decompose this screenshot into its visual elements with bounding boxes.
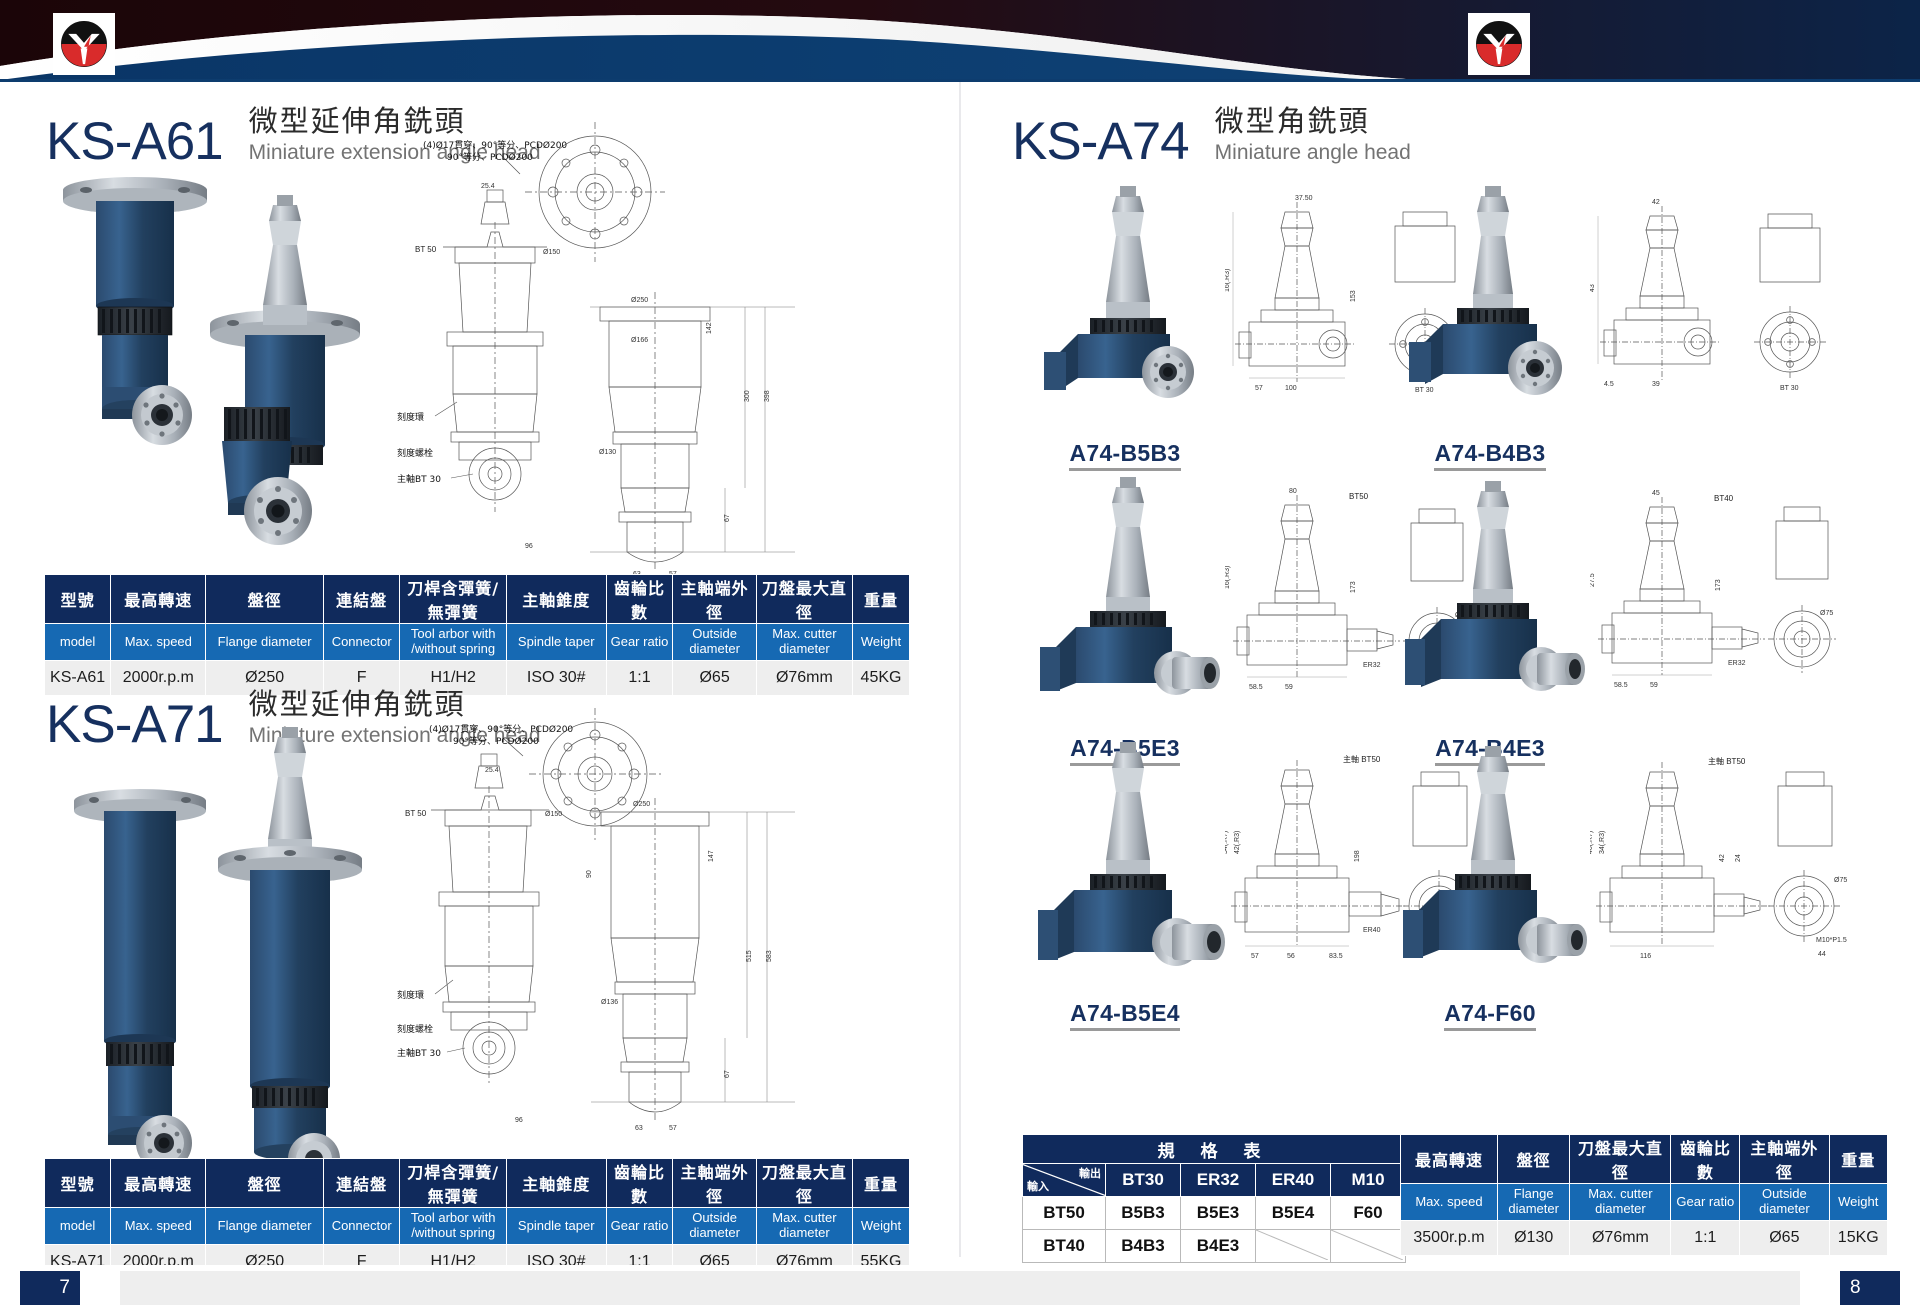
svg-text:173: 173 <box>1350 581 1357 593</box>
diagonal-slash-icon <box>1256 1230 1328 1260</box>
col-header-cn-connector: 連結盤 <box>323 1159 400 1208</box>
svg-text:56: 56 <box>1287 953 1295 960</box>
product-name-en: Miniature angle head <box>1215 140 1411 165</box>
variant-label: A74-B5E4 <box>1070 1000 1180 1031</box>
col-header-cn-gear: 齒輪比數 <box>1671 1135 1740 1184</box>
col-header-cn-outside: 主軸端外徑 <box>673 575 756 624</box>
cell-gear: 1:1 <box>1671 1221 1740 1256</box>
variant-photo <box>1385 742 1595 992</box>
svg-text:BT50: BT50 <box>1349 492 1369 501</box>
col-header-en-speed: Max. speed <box>111 624 206 661</box>
variant-photo <box>1385 477 1595 727</box>
col-header-en-gear: Gear ratio <box>1671 1184 1740 1221</box>
svg-text:25.4: 25.4 <box>481 183 495 190</box>
col-header-cn-gear: 齒輪比數 <box>606 1159 673 1208</box>
col-header-cn-taper: 主軸錐度 <box>506 1159 606 1208</box>
svg-text:90: 90 <box>586 870 593 878</box>
svg-text:44: 44 <box>1818 951 1826 958</box>
table-header-row-en: Max. speed Flange diameter Max. cutter d… <box>1401 1184 1888 1221</box>
drawing-note-bore: (4)Ø17貫穿、90°等分、PCDØ200 <box>429 723 573 735</box>
col-header-en-cutter: Max. cutter diameter <box>756 1208 852 1245</box>
variant-photo <box>1020 477 1230 727</box>
variant-a74-b4e3: 45 27.5 173 58.5 59 ER32 Ø75 BT40 A74-B4… <box>1385 477 1595 732</box>
company-logo-icon <box>56 16 112 72</box>
svg-text:ER32: ER32 <box>1363 662 1381 669</box>
col-header-cn-connector: 連結盤 <box>323 575 400 624</box>
cell-speed: 3500r.p.m <box>1401 1221 1498 1256</box>
technical-drawing-ks-a71: (4)Ø17貫穿、90°等分、PCDØ200 90°等分、PCDØ200 25.… <box>395 682 945 1222</box>
matrix-col-m10: M10 <box>1331 1164 1406 1197</box>
svg-text:37.50: 37.50 <box>1295 195 1313 202</box>
col-header-en-speed: Max. speed <box>111 1208 206 1245</box>
svg-text:398: 398 <box>764 390 771 402</box>
svg-text:198: 198 <box>1354 850 1361 862</box>
col-header-en-cutter: Max. cutter diameter <box>1570 1184 1671 1221</box>
company-logo-secondary <box>1468 13 1530 75</box>
svg-text:147: 147 <box>708 850 715 862</box>
svg-text:Ø150: Ø150 <box>545 811 562 818</box>
col-header-cn-cutter: 刀盤最大直徑 <box>756 575 852 624</box>
svg-text:515: 515 <box>746 950 753 962</box>
svg-text:34(.R3): 34(.R3) <box>1599 831 1606 854</box>
col-header-cn-speed: 最高轉速 <box>111 575 206 624</box>
matrix-cell: B4B3 <box>1106 1230 1181 1263</box>
col-header-en-gear: Gear ratio <box>606 624 673 661</box>
svg-text:67: 67 <box>724 514 731 522</box>
col-header-en-weight: Weight <box>1829 1184 1887 1221</box>
svg-text:57: 57 <box>1251 953 1259 960</box>
svg-text:ER40: ER40 <box>1363 927 1381 934</box>
col-header-cn-flange: 盤徑 <box>206 575 323 624</box>
svg-text:16(.R3): 16(.R3) <box>1225 566 1231 589</box>
svg-text:Ø166: Ø166 <box>631 337 648 344</box>
svg-text:刻度環: 刻度環 <box>397 989 424 1001</box>
svg-text:46(.R7): 46(.R7) <box>1590 831 1594 854</box>
col-header-cn-weight: 重量 <box>1829 1135 1887 1184</box>
col-header-en-flange: Flange diameter <box>1497 1184 1570 1221</box>
svg-text:42: 42 <box>1652 199 1660 206</box>
svg-text:24: 24 <box>1735 854 1742 862</box>
matrix-title-row: 規 格 表 <box>1023 1135 1406 1164</box>
matrix-corner-cell: 輸出 輸入 <box>1023 1164 1106 1197</box>
svg-text:42(.R3): 42(.R3) <box>1234 831 1241 854</box>
cell-cutter: Ø76mm <box>1570 1221 1671 1256</box>
svg-text:25.4: 25.4 <box>485 767 499 774</box>
col-header-cn-speed: 最高轉速 <box>1401 1135 1498 1184</box>
product-photo-ks-a71-side <box>190 717 390 1192</box>
variant-label-wrap: A74-B5E4 <box>1020 1000 1230 1031</box>
product-title-ks-a74: KS-A74 微型角銑頭 Miniature angle head <box>1012 104 1411 168</box>
svg-text:ER32: ER32 <box>1728 660 1746 667</box>
svg-text:100: 100 <box>1285 385 1297 392</box>
table-header-row-en: model Max. speed Flange diameter Connect… <box>45 1208 910 1245</box>
col-header-cn-weight: 重量 <box>853 575 910 624</box>
catalog-spread: KS-A61 微型延伸角銑頭 Miniature extension angle… <box>0 82 1920 1311</box>
cell-outside: Ø65 <box>1740 1221 1829 1256</box>
svg-text:主軸 BT50: 主軸 BT50 <box>1343 754 1381 764</box>
product-photo-ks-a61-head <box>182 407 332 572</box>
variant-label-wrap: A74-F60 <box>1385 1000 1595 1031</box>
col-header-cn-speed: 最高轉速 <box>111 1159 206 1208</box>
variant-a74-b5e4: 主軸 BT50 54(.R7) 42(.R3) 57 56 83.5 ER40 … <box>1020 742 1230 997</box>
matrix-cell: B5E4 <box>1256 1197 1331 1230</box>
col-header-cn-cutter: 刀盤最大直徑 <box>756 1159 852 1208</box>
svg-text:Ø75: Ø75 <box>1820 610 1833 617</box>
col-header-en-outside: Outside diameter <box>1740 1184 1829 1221</box>
product-name-cn: 微型角銑頭 <box>1215 104 1411 138</box>
col-header-en-taper: Spindle taper <box>506 624 606 661</box>
svg-text:主軸 BT50: 主軸 BT50 <box>1708 756 1746 766</box>
svg-text:39: 39 <box>1652 381 1660 388</box>
col-header-cn-weight: 重量 <box>853 1159 910 1208</box>
company-logo-icon <box>1471 16 1527 72</box>
svg-text:主軸BT 30: 主軸BT 30 <box>397 473 441 485</box>
matrix-row-label: BT40 <box>1023 1230 1106 1263</box>
spec-matrix-table: 規 格 表 輸出 輸入 BT30 ER32 ER40 M10 BT50 B5B3… <box>1022 1134 1406 1263</box>
matrix-header-row: 輸出 輸入 BT30 ER32 ER40 M10 <box>1023 1164 1406 1197</box>
spec-table-ks-a71: 型號 最高轉速 盤徑 連結盤 刀桿含彈簧/無彈簧 主軸錐度 齒輪比數 主軸端外徑… <box>44 1158 910 1280</box>
col-header-cn-model: 型號 <box>45 1159 111 1208</box>
svg-text:58.5: 58.5 <box>1614 682 1628 689</box>
header-banner-graphic <box>0 0 1920 82</box>
cell-flange: Ø130 <box>1497 1221 1570 1256</box>
col-header-en-speed: Max. speed <box>1401 1184 1498 1221</box>
svg-text:153: 153 <box>1350 290 1357 302</box>
variant-a74-b4b3: 42 43 4.5 39 BT 30 A74-B4B3 <box>1385 182 1595 437</box>
svg-text:58.5: 58.5 <box>1249 684 1263 691</box>
svg-text:57: 57 <box>669 1125 677 1132</box>
variant-a74-f60: 主軸 BT50 46(.R7) 34(.R3) 116 44 M10*P1.5 … <box>1385 742 1595 997</box>
svg-text:4.5: 4.5 <box>1604 381 1614 388</box>
col-header-en-cutter: Max. cutter diameter <box>756 624 852 661</box>
svg-text:刻度螺栓: 刻度螺栓 <box>397 1023 433 1035</box>
svg-text:80: 80 <box>1289 488 1297 495</box>
matrix-title: 規 格 表 <box>1023 1135 1406 1164</box>
cell-weight: 15KG <box>1829 1221 1887 1256</box>
variant-photo <box>1385 182 1595 432</box>
svg-text:90°等分、PCDØ200: 90°等分、PCDØ200 <box>453 735 539 747</box>
matrix-cell: B5B3 <box>1106 1197 1181 1230</box>
variant-label: A74-B5B3 <box>1069 440 1180 471</box>
col-header-en-arbor: Tool arbor with /without spring <box>400 1208 506 1245</box>
table-header-row-en: model Max. speed Flange diameter Connect… <box>45 624 910 661</box>
table-header-row-cn: 型號 最高轉速 盤徑 連結盤 刀桿含彈簧/無彈簧 主軸錐度 齒輪比數 主軸端外徑… <box>45 575 910 624</box>
col-header-en-arbor: Tool arbor with /without spring <box>400 624 506 661</box>
col-header-en-weight: Weight <box>853 1208 910 1245</box>
svg-text:96: 96 <box>515 1117 523 1124</box>
matrix-col-er40: ER40 <box>1256 1164 1331 1197</box>
col-header-en-flange: Flange diameter <box>206 1208 323 1245</box>
col-header-cn-flange: 盤徑 <box>1497 1135 1570 1184</box>
svg-text:59: 59 <box>1285 684 1293 691</box>
matrix-row-label: BT50 <box>1023 1197 1106 1230</box>
col-header-en-connector: Connector <box>323 624 400 661</box>
svg-text:Ø75: Ø75 <box>1834 877 1847 884</box>
drawing-note-bore: (4)Ø17貫穿、90°等分、PCDØ200 <box>423 139 567 151</box>
variant-a74-b5b3: 37.50 16(.R3) 100 153 57 BT 30 A74-B5B3 <box>1020 182 1230 437</box>
svg-text:Ø150: Ø150 <box>543 249 560 256</box>
col-header-en-model: model <box>45 624 111 661</box>
spec-table-ks-a61: 型號 最高轉速 盤徑 連結盤 刀桿含彈簧/無彈簧 主軸錐度 齒輪比數 主軸端外徑… <box>44 574 910 696</box>
col-header-en-flange: Flange diameter <box>206 624 323 661</box>
footer-bar-left <box>120 1271 960 1305</box>
page-divider <box>959 82 961 1257</box>
variant-drawing: 45 27.5 173 58.5 59 ER32 Ø75 BT40 <box>1590 477 1865 727</box>
page-footer: 7 8 <box>0 1265 1920 1311</box>
col-header-en-outside: Outside diameter <box>673 1208 756 1245</box>
col-header-cn-flange: 盤徑 <box>206 1159 323 1208</box>
svg-text:Ø136: Ø136 <box>601 999 618 1006</box>
svg-text:59: 59 <box>1650 682 1658 689</box>
variant-drawing: 主軸 BT50 46(.R7) 34(.R3) 116 44 M10*P1.5 … <box>1590 742 1865 992</box>
svg-text:83.5: 83.5 <box>1329 953 1343 960</box>
variant-photo <box>1020 742 1230 992</box>
variant-photo <box>1020 182 1230 432</box>
svg-text:Ø130: Ø130 <box>599 449 616 456</box>
page-number-left: 7 <box>20 1271 80 1305</box>
col-header-cn-gear: 齒輪比數 <box>606 575 673 624</box>
svg-text:142: 142 <box>706 322 713 334</box>
col-header-cn-cutter: 刀盤最大直徑 <box>1570 1135 1671 1184</box>
svg-text:67: 67 <box>724 1070 731 1078</box>
matrix-cell: B4E3 <box>1181 1230 1256 1263</box>
svg-text:BT 30: BT 30 <box>1780 385 1799 392</box>
svg-text:Ø250: Ø250 <box>631 297 648 304</box>
matrix-corner-out: 輸出 <box>1079 1165 1101 1181</box>
svg-text:96: 96 <box>525 543 533 550</box>
svg-text:16(.R3): 16(.R3) <box>1225 269 1231 292</box>
technical-drawing-ks-a61: (4)Ø17貫穿、90°等分、PCDØ200 90°等分、PCDØ200 25.… <box>395 102 945 622</box>
variant-label: A74-B4B3 <box>1434 440 1545 471</box>
page-number-right: 8 <box>1840 1271 1900 1305</box>
svg-text:27.5: 27.5 <box>1590 573 1596 587</box>
col-header-en-taper: Spindle taper <box>506 1208 606 1245</box>
page-header <box>0 0 1920 82</box>
col-header-en-gear: Gear ratio <box>606 1208 673 1245</box>
table-header-row-cn: 最高轉速 盤徑 刀盤最大直徑 齒輪比數 主軸端外徑 重量 <box>1401 1135 1888 1184</box>
matrix-cell-empty <box>1331 1230 1406 1263</box>
variant-a74-b5e3: 80 16(.R3) 173 58.5 59 ER32 Ø75 BT50 A74… <box>1020 477 1230 732</box>
company-logo <box>53 13 115 75</box>
matrix-corner-in: 輸入 <box>1027 1178 1049 1194</box>
svg-text:刻度環: 刻度環 <box>397 411 424 423</box>
table-header-row-cn: 型號 最高轉速 盤徑 連結盤 刀桿含彈簧/無彈簧 主軸錐度 齒輪比數 主軸端外徑… <box>45 1159 910 1208</box>
svg-text:42: 42 <box>1719 854 1726 862</box>
svg-text:90°等分、PCDØ200: 90°等分、PCDØ200 <box>447 151 533 163</box>
diagonal-slash-icon <box>1331 1230 1403 1260</box>
spec-table-ks-a74: 最高轉速 盤徑 刀盤最大直徑 齒輪比數 主軸端外徑 重量 Max. speed … <box>1400 1134 1888 1256</box>
svg-text:300: 300 <box>744 390 751 402</box>
svg-text:BT 50: BT 50 <box>405 809 427 818</box>
matrix-cell-empty <box>1256 1230 1331 1263</box>
col-header-cn-outside: 主軸端外徑 <box>1740 1135 1829 1184</box>
svg-text:刻度螺栓: 刻度螺栓 <box>397 447 433 459</box>
svg-text:57: 57 <box>1255 385 1263 392</box>
col-header-en-weight: Weight <box>853 624 910 661</box>
svg-text:63: 63 <box>635 1125 643 1132</box>
col-header-en-outside: Outside diameter <box>673 624 756 661</box>
svg-text:Ø250: Ø250 <box>633 801 650 808</box>
col-header-cn-arbor: 刀桿含彈簧/無彈簧 <box>400 575 506 624</box>
footer-bar-right <box>960 1271 1800 1305</box>
matrix-col-er32: ER32 <box>1181 1164 1256 1197</box>
svg-text:BT40: BT40 <box>1714 494 1734 503</box>
svg-text:M10*P1.5: M10*P1.5 <box>1816 937 1847 944</box>
svg-text:45: 45 <box>1652 490 1660 497</box>
col-header-en-connector: Connector <box>323 1208 400 1245</box>
svg-text:BT 50: BT 50 <box>415 245 437 254</box>
svg-text:116: 116 <box>1640 953 1651 960</box>
variant-drawing: 42 43 4.5 39 BT 30 <box>1590 182 1865 432</box>
matrix-row-bt50: BT50 B5B3 B5E3 B5E4 F60 <box>1023 1197 1406 1230</box>
svg-text:54(.R7): 54(.R7) <box>1225 831 1229 854</box>
svg-text:173: 173 <box>1715 579 1722 591</box>
col-header-cn-arbor: 刀桿含彈簧/無彈簧 <box>400 1159 506 1208</box>
matrix-row-bt40: BT40 B4B3 B4E3 <box>1023 1230 1406 1263</box>
variant-label-wrap: A74-B4B3 <box>1385 440 1595 471</box>
col-header-cn-outside: 主軸端外徑 <box>673 1159 756 1208</box>
matrix-cell: B5E3 <box>1181 1197 1256 1230</box>
product-code: KS-A74 <box>1012 115 1189 168</box>
table-row: 3500r.p.m Ø130 Ø76mm 1:1 Ø65 15KG <box>1401 1221 1888 1256</box>
svg-text:583: 583 <box>766 950 773 962</box>
svg-text:43: 43 <box>1590 284 1596 292</box>
col-header-cn-model: 型號 <box>45 575 111 624</box>
svg-text:主軸BT 30: 主軸BT 30 <box>397 1047 441 1059</box>
matrix-col-bt30: BT30 <box>1106 1164 1181 1197</box>
matrix-cell: F60 <box>1331 1197 1406 1230</box>
variant-label: A74-F60 <box>1444 1000 1536 1031</box>
variant-label-wrap: A74-B5B3 <box>1020 440 1230 472</box>
col-header-en-model: model <box>45 1208 111 1245</box>
col-header-cn-taper: 主軸錐度 <box>506 575 606 624</box>
